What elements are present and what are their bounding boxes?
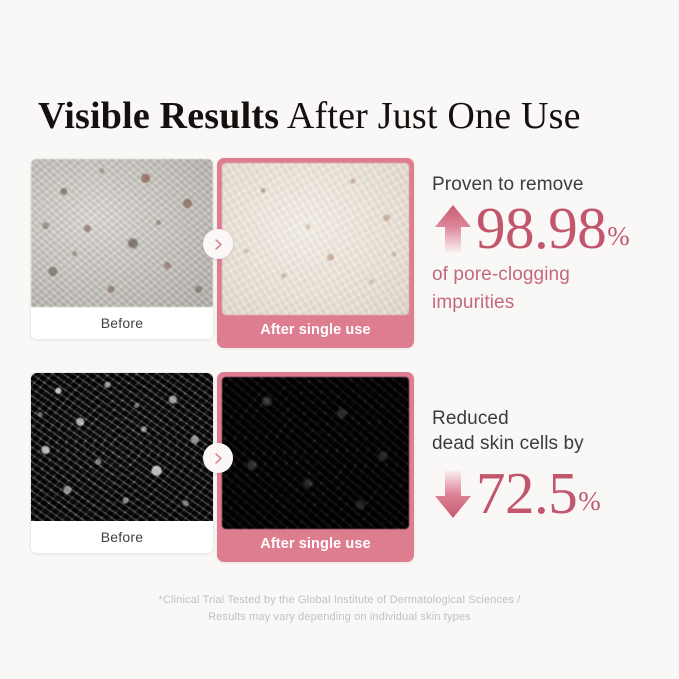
footnote-line-1: *Clinical Trial Tested by the Global Ins… [0,592,679,609]
stat-lead-text-line2: dead skin cells by [432,431,672,456]
after-skin-image-pores [222,163,409,315]
stat-lead-text: Proven to remove [432,172,672,197]
stat-value: 72.5 [476,462,577,524]
chevron-right-icon [203,229,233,259]
before-label: Before [31,521,213,554]
footnote-line-2: Results may vary depending on individual… [0,609,679,626]
chevron-right-icon [203,443,233,473]
before-card-dead-skin: Before [30,372,214,554]
after-label: After single use [222,315,409,348]
before-card-pores: Before [30,158,214,340]
stat-unit: % [607,221,630,259]
stat-tail-line1: of pore-clogging [432,262,672,287]
footnote: *Clinical Trial Tested by the Global Ins… [0,592,679,626]
stat-figure: 72.5 % [430,462,672,524]
stat-block-dead-skin: Reduced dead skin cells by 72.5 % [432,406,672,524]
stat-unit: % [578,486,601,524]
stat-value: 98.98 [476,197,606,259]
comparison-row-dead-skin: Before After single use [30,372,420,562]
results-infographic: Visible Results After Just One Use Befor… [0,0,679,679]
stat-lead-text: Reduced [432,406,672,431]
stat-tail-line2: impurities [432,290,672,315]
page-title-bold: Visible Results [38,95,279,137]
after-card-dead-skin: After single use [217,372,414,562]
before-label: Before [31,307,213,340]
page-title-light: After Just One Use [279,95,580,137]
before-skin-image-dead-skin [31,373,213,521]
arrow-up-icon [430,197,476,259]
comparison-row-pores: Before After single use [30,158,420,348]
page-title: Visible Results After Just One Use [38,93,658,139]
after-skin-image-dead-skin [222,377,409,529]
arrow-down-icon [430,462,476,524]
stat-block-pores: Proven to remove 98.98 % of pore-clogg [432,172,672,315]
after-label: After single use [222,529,409,562]
after-card-pores: After single use [217,158,414,348]
before-skin-image-pores [31,159,213,307]
stat-figure: 98.98 % [430,197,672,259]
